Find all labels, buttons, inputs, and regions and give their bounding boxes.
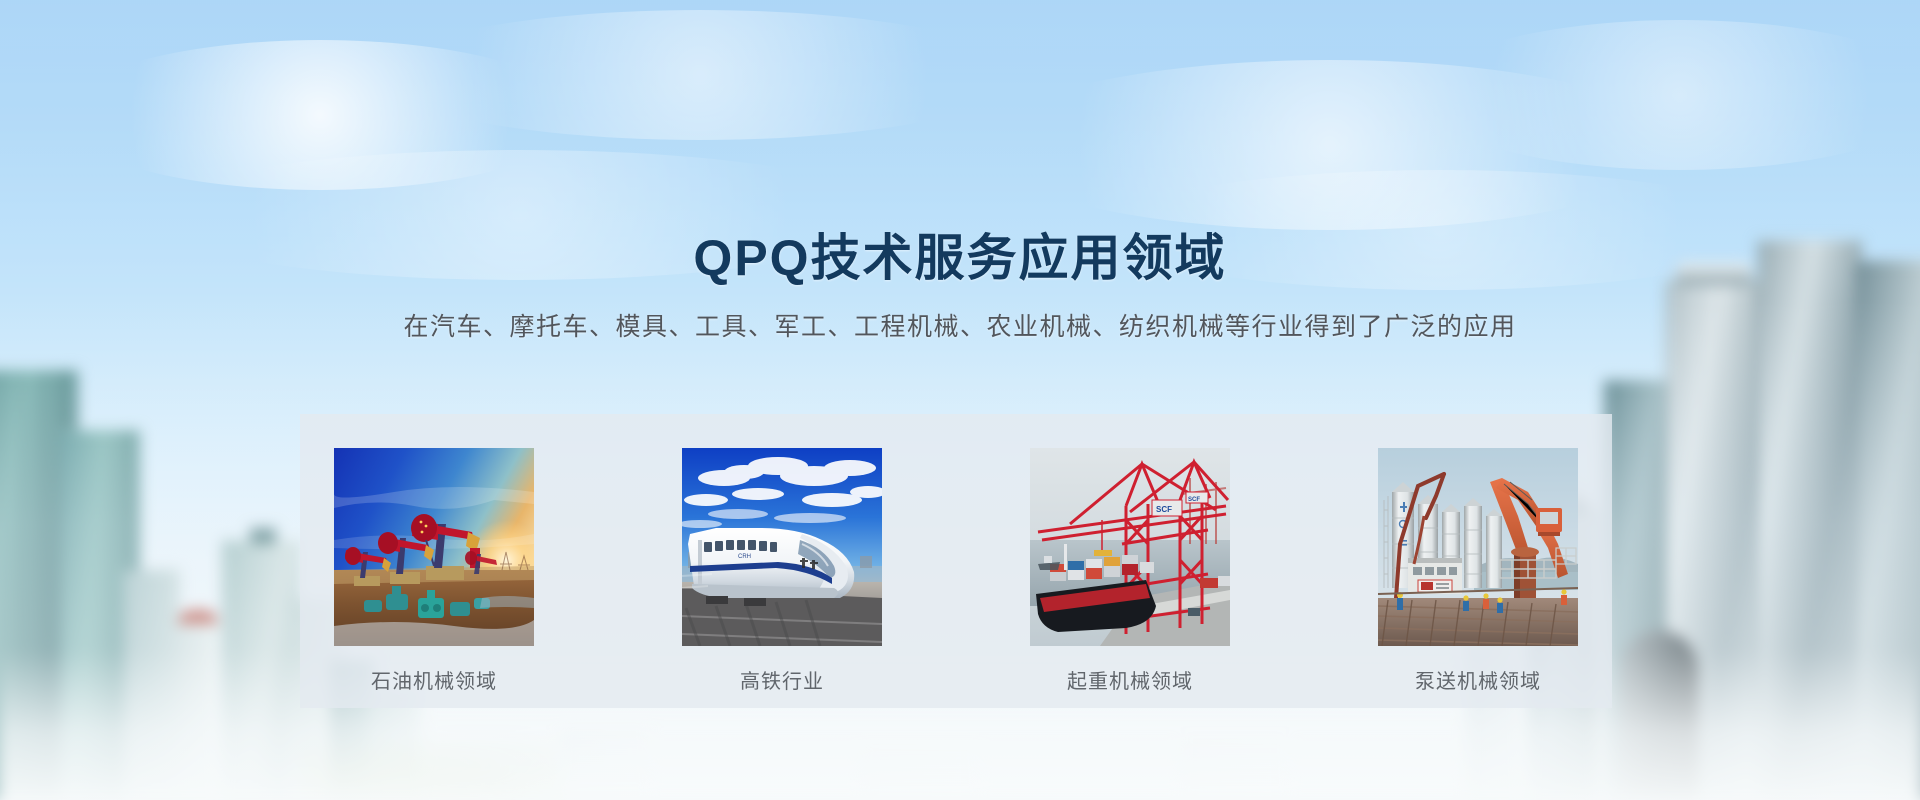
hero-banner: QPQ技术服务应用领域 在汽车、摩托车、模具、工具、军工、工程机械、农业机械、纺… [0, 0, 1920, 800]
skyline-rooftop-cap [250, 528, 276, 544]
skyline-building [860, 748, 980, 800]
skyline-building [560, 730, 650, 800]
red-port-gantry-cranes-photo[interactable]: SCF SCF [1030, 448, 1230, 646]
page-subtitle: 在汽车、摩托车、模具、工具、军工、工程机械、农业机械、纺织机械等行业得到了广泛的… [0, 310, 1920, 344]
cloud-wisp [980, 60, 1680, 230]
skyline-building [1666, 280, 1762, 800]
skyline-treeline [300, 730, 560, 800]
skyline-building [1180, 740, 1290, 800]
cloud-wisp [380, 10, 1020, 140]
application-fields-panel: 石油机械领域 [300, 414, 1612, 708]
high-speed-crh-train-photo[interactable]: CRH [682, 448, 882, 646]
card-pumping-machinery[interactable]: 泵送机械领域 [1378, 448, 1578, 695]
cloud-wisp [1420, 20, 1920, 170]
skyline-building [124, 570, 180, 800]
skyline-building [1620, 630, 1698, 800]
svg-text:SCF: SCF [1188, 497, 1200, 503]
svg-text:SCF: SCF [1156, 505, 1172, 514]
skyline-building [0, 370, 78, 800]
skyline-building [1604, 380, 1668, 800]
card-label: 石油机械领域 [334, 669, 534, 695]
card-label: 起重机械领域 [1030, 669, 1230, 695]
card-lifting-machinery[interactable]: SCF SCF [1030, 448, 1230, 695]
skyline-roof-accent [178, 610, 218, 624]
cloud-wisp [60, 40, 580, 190]
heading-block: QPQ技术服务应用领域 在汽车、摩托车、模具、工具、军工、工程机械、农业机械、纺… [0, 228, 1920, 344]
page-title: QPQ技术服务应用领域 [0, 228, 1920, 288]
card-label: 泵送机械领域 [1378, 669, 1578, 695]
skyline-building [60, 430, 140, 800]
svg-text:CRH: CRH [738, 554, 751, 560]
card-label: 高铁行业 [682, 669, 882, 695]
oil-pumpjacks-at-sunset-photo[interactable] [334, 448, 534, 646]
card-high-speed-rail[interactable]: CRH [682, 448, 882, 695]
skyline-building [222, 540, 300, 800]
card-oil-machinery[interactable]: 石油机械领域 [334, 448, 534, 695]
concrete-pump-and-silos-photo[interactable] [1378, 448, 1578, 646]
skyline-building [178, 620, 218, 800]
